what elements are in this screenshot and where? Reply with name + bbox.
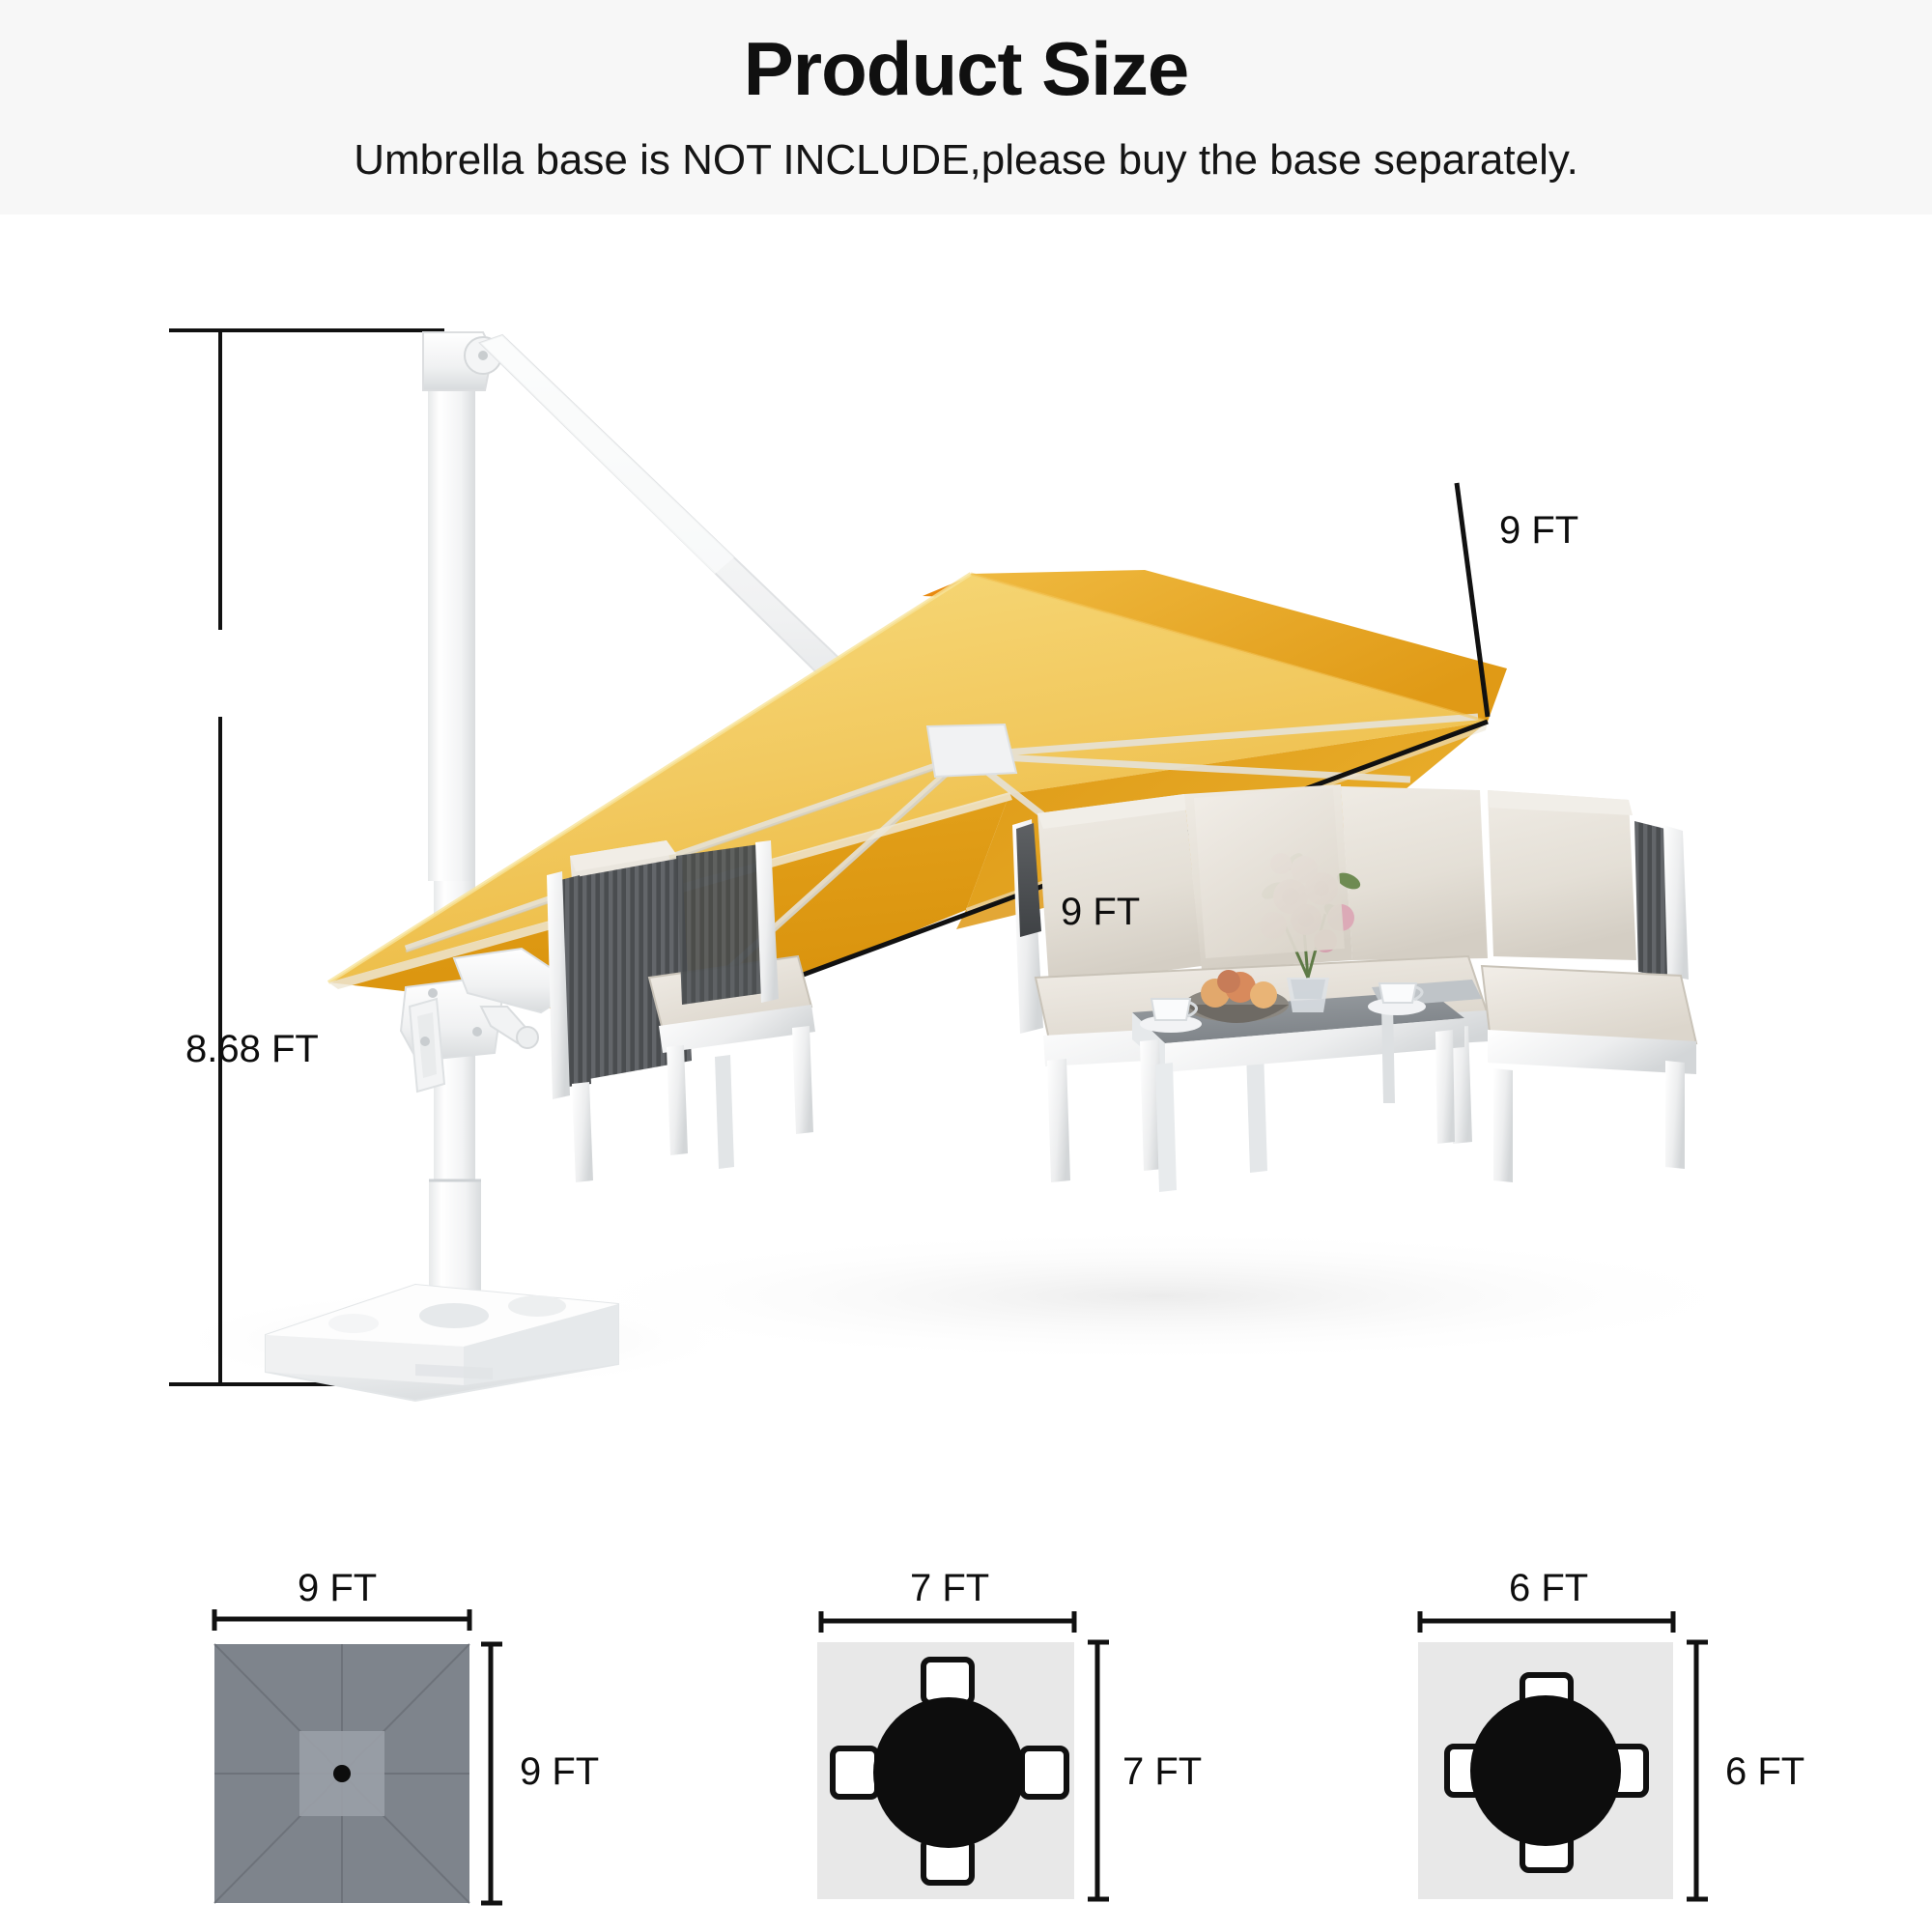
diagram-table-chairs-tucked [1391,1567,1826,1932]
diagram-table-chairs-out [792,1567,1198,1932]
side-dimension-bar [481,1644,502,1903]
table7-side-label: 7 FT [1122,1750,1202,1793]
height-dimension-label: 8.68 FT [185,1028,319,1070]
height-dimension-line [169,330,444,1384]
canopy-top-label: 9 FT [298,1567,377,1609]
header-banner: Product Size Umbrella base is NOT INCLUD… [0,0,1932,214]
rose-pillow [1194,788,1345,958]
round-table [1470,1695,1621,1846]
table6-top-label: 6 FT [1509,1567,1588,1609]
chair-left [833,1748,877,1797]
page-title: Product Size [0,27,1932,110]
chaise-module [1482,790,1696,1182]
footprint-diagrams: 9 FT 9 FT 7 FT 7 FT [0,1567,1932,1932]
side-dimension-bar [1088,1642,1109,1899]
canopy-side-label: 9 FT [520,1750,599,1793]
round-table [873,1697,1024,1848]
canopy-width-dimension-label: 9 FT [1061,891,1140,933]
product-scene: 8.68 FT 9 FT 9 FT [0,214,1932,1567]
page-subtitle: Umbrella base is NOT INCLUDE,please buy … [0,135,1932,185]
chair-top [923,1660,972,1703]
top-dimension-bar [214,1609,469,1631]
umbrella-and-furniture-illustration [0,214,1932,1567]
umbrella-pole [428,338,481,1306]
table6-side-label: 6 FT [1725,1750,1804,1793]
diagram-canopy-footprint [145,1567,551,1932]
canopy-depth-dimension-label: 9 FT [1499,509,1578,552]
table7-top-label: 7 FT [910,1567,989,1609]
top-dimension-bar [1420,1611,1673,1633]
canopy-center-dot [333,1765,351,1782]
top-dimension-bar [821,1611,1074,1633]
side-dimension-bar [1687,1642,1708,1899]
chair-right [1022,1748,1066,1797]
